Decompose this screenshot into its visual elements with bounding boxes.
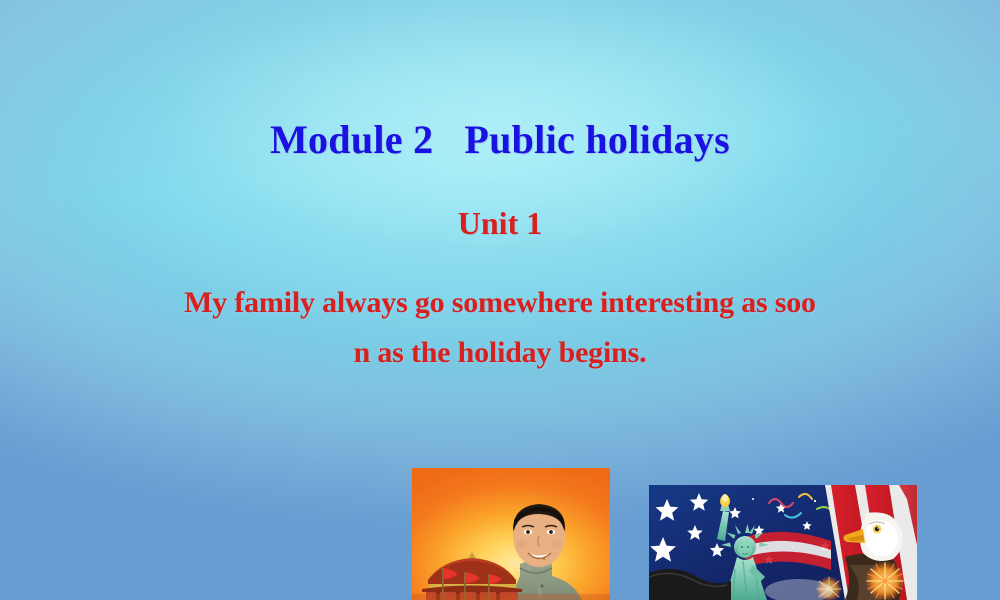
china-image-artwork xyxy=(412,468,610,600)
module-title: Module 2 Public holidays xyxy=(0,118,1000,162)
lesson-sentence: My family always go somewhere interestin… xyxy=(90,278,910,378)
usa-independence-day-image xyxy=(649,485,917,600)
presentation-slide: Module 2 Public holidays Unit 1 My famil… xyxy=(0,0,1000,600)
sentence-line-1: My family always go somewhere interestin… xyxy=(90,278,910,328)
unit-title: Unit 1 xyxy=(0,206,1000,241)
china-national-day-image xyxy=(412,468,610,600)
sentence-line-2: n as the holiday begins. xyxy=(90,328,910,378)
title-block: Module 2 Public holidays xyxy=(0,118,1000,162)
usa-image-artwork xyxy=(649,485,917,600)
